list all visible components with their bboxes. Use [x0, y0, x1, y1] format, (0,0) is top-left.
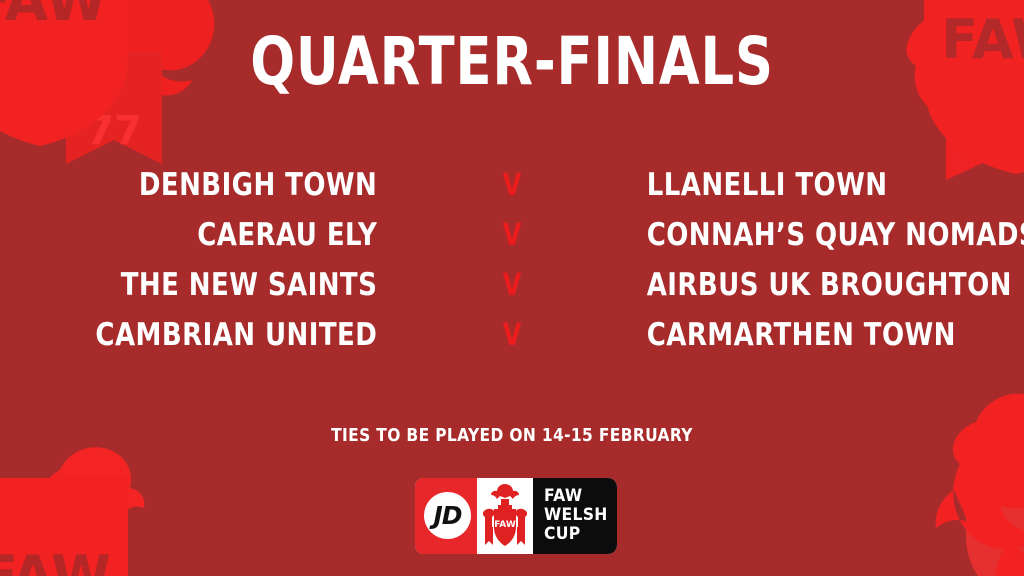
fixture-row: CAERAU ELY V CONNAH’S QUAY NOMADS [0, 210, 1024, 260]
fixture-date-caption: TIES TO BE PLAYED ON 14-15 FEBRUARY [72, 424, 953, 448]
svg-text:FAW: FAW [494, 520, 516, 530]
home-team: THE NEW SAINTS [61, 260, 384, 310]
page-title: QUARTER-FINALS [102, 26, 921, 98]
shield-watermark-top-right: FAW [916, 0, 1024, 180]
competition-logo-lockup: JD FAW [415, 478, 617, 554]
home-team: CAERAU ELY [61, 210, 384, 260]
away-team: AIRBUS UK BROUGHTON [640, 260, 963, 310]
fixture-row: DENBIGH TOWN V LLANELLI TOWN [0, 160, 1024, 210]
svg-text:77: 77 [86, 108, 142, 154]
versus-separator: V [410, 261, 615, 311]
dragon-watermark-bottom-right [918, 382, 1024, 576]
home-team: DENBIGH TOWN [61, 160, 384, 210]
versus-separator: V [410, 311, 615, 361]
versus-separator: V [410, 211, 615, 261]
away-team: CONNAH’S QUAY NOMADS [640, 210, 963, 260]
competition-name: FAW WELSH CUP [544, 487, 608, 544]
competition-name-line-3: CUP [544, 525, 608, 544]
poster-canvas: 77 FAW 18 FAW FAW [0, 0, 1024, 576]
faw-crest-icon: FAW [480, 483, 530, 549]
versus-separator: V [410, 161, 615, 211]
away-team: CARMARTHEN TOWN [640, 310, 963, 360]
home-team: CAMBRIAN UNITED [61, 310, 384, 360]
svg-text:FAW: FAW [0, 544, 111, 576]
jd-circle: JD [424, 492, 471, 539]
shield-watermark-bottom-right [960, 430, 1024, 576]
svg-text:FAW: FAW [0, 0, 107, 34]
jd-logo-icon: JD [424, 492, 471, 539]
dragon-watermark-bottom-left [30, 440, 152, 576]
fixture-row: CAMBRIAN UNITED V CARMARTHEN TOWN [0, 310, 1024, 360]
fixtures-list: DENBIGH TOWN V LLANELLI TOWN CAERAU ELY … [0, 160, 1024, 360]
competition-name-line-1: FAW [544, 487, 608, 506]
shield-watermark-bottom-left: FAW [0, 474, 136, 576]
competition-name-panel: FAW WELSH CUP [533, 478, 617, 554]
svg-text:FAW: FAW [941, 8, 1024, 71]
competition-name-line-2: WELSH [544, 506, 608, 525]
away-team: LLANELLI TOWN [640, 160, 963, 210]
fixture-row: THE NEW SAINTS V AIRBUS UK BROUGHTON [0, 260, 1024, 310]
jd-sports-panel: JD [415, 478, 477, 554]
faw-crest-panel: FAW [477, 478, 533, 554]
